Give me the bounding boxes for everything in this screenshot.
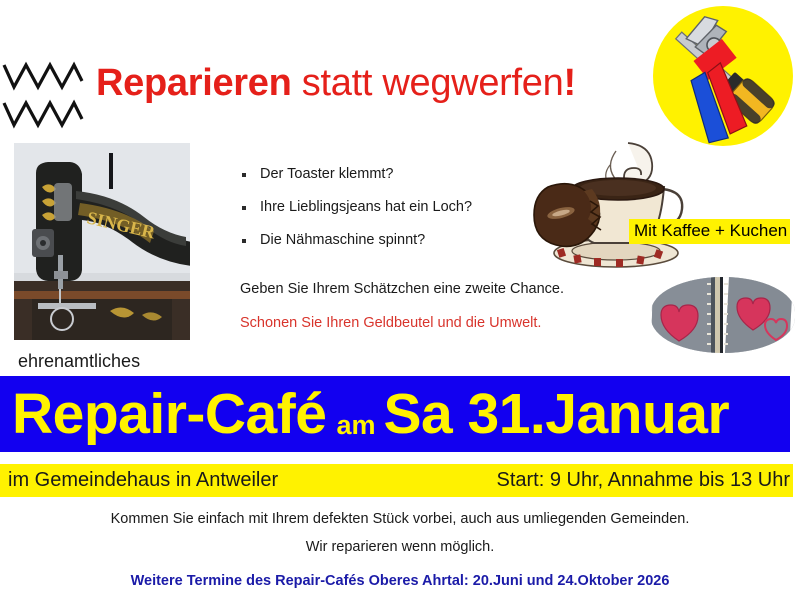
list-item: Die Nähmaschine spinnt? (238, 232, 568, 248)
headline-exclamation: ! (563, 62, 575, 104)
list-item: Der Toaster klemmt? (238, 166, 568, 182)
title-connector: am (336, 412, 375, 439)
sewing-machine-photo: SINGER (14, 143, 190, 340)
note-line-1: Kommen Sie einfach mit Ihrem defekten St… (0, 511, 800, 527)
list-item: Ihre Lieblingsjeans hat ein Loch? (238, 199, 568, 215)
coffee-cup-illustration (524, 139, 696, 274)
repair-cafe-poster: Reparieren statt wegwerfen! (0, 0, 800, 599)
headline-normal: statt wegwerfen (292, 62, 564, 104)
second-chance-text: Geben Sie Ihrem Schätzchen eine zweite C… (240, 281, 564, 297)
environment-text: Schonen Sie Ihren Geldbeutel und die Umw… (240, 315, 541, 331)
repair-cafe-title: Repair-Café (12, 386, 326, 443)
event-date: Sa 31.Januar (383, 386, 729, 443)
ehrenamtliches-label: ehrenamtliches (18, 351, 140, 372)
footer-dates: Weitere Termine des Repair-Cafés Oberes … (0, 573, 800, 589)
info-band: im Gemeindehaus in Antweiler Start: 9 Uh… (0, 464, 793, 497)
venue-label: im Gemeindehaus in Antweiler (8, 469, 278, 492)
zigzag-stitch-icon (2, 57, 84, 133)
headline-strong: Reparieren (96, 62, 292, 104)
question-list: Der Toaster klemmt? Ihre Lieblingsjeans … (238, 166, 568, 265)
title-band: Repair-Café am Sa 31.Januar (0, 376, 790, 452)
kaffee-kuchen-badge: Mit Kaffee + Kuchen (629, 219, 790, 244)
note-line-2: Wir reparieren wenn möglich. (0, 539, 800, 555)
opening-times-label: Start: 9 Uhr, Annahme bis 13 Uhr (497, 469, 791, 492)
tools-logo-icon (649, 2, 797, 150)
page-title: Reparieren statt wegwerfen! (96, 62, 576, 105)
jeans-patch-photo (651, 277, 795, 353)
